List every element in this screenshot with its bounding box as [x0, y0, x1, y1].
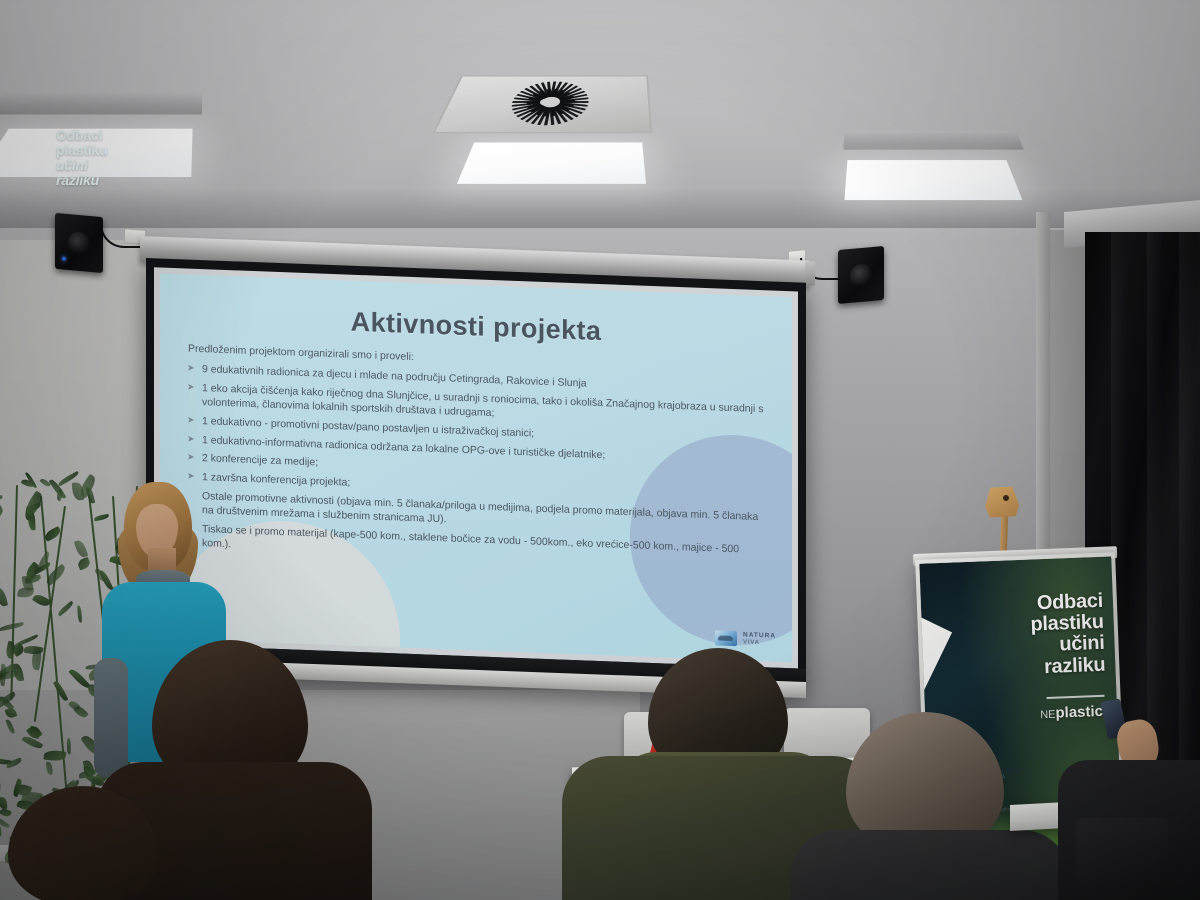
shirt-line-2: plastiku [56, 142, 107, 158]
photo-scene: Aktivnosti projekta Predloženim projekto… [0, 0, 1200, 900]
shirt-line-4: razliku [56, 172, 99, 188]
plant-leaf [0, 504, 5, 521]
plant-leaf [46, 761, 53, 774]
plant-leaf [0, 586, 9, 607]
shirt-line-3: učini [56, 157, 88, 173]
projection-screen: Aktivnosti projekta Predloženim projekto… [146, 258, 806, 695]
plant-leaf [0, 577, 1, 588]
bullet-arrow-icon: ➤ [187, 433, 195, 445]
wall-speaker-right [838, 246, 884, 304]
plant-leaf [0, 848, 2, 870]
bullet-arrow-icon: ➤ [187, 363, 195, 375]
plant-leaf [0, 777, 1, 794]
presenter-arm-left [94, 658, 128, 778]
nestbox-hole [1003, 495, 1009, 501]
ceiling-led-panel-center [457, 143, 646, 184]
plant-leaf [56, 601, 74, 617]
plant-leaf [0, 796, 8, 808]
slide-logo-natura-viva: NATURA VIVA [715, 630, 776, 647]
banner-divider [1047, 695, 1105, 699]
bullet-arrow-icon: ➤ [187, 452, 195, 464]
plant-leaf [0, 496, 2, 501]
presentation-slide: Aktivnosti projekta Predloženim projekto… [160, 274, 792, 663]
plant-leaf [23, 644, 43, 654]
attendee-grey-hair-body [790, 830, 1070, 900]
banner-headline: Odbaci plastiku učini razliku [975, 591, 1106, 681]
screen-surface: Aktivnosti projekta Predloženim projekto… [154, 267, 798, 668]
ceiling-light-frame-left [0, 92, 202, 114]
ceiling-led-panel-right [844, 160, 1022, 200]
banner-sub-prefix: NE [1040, 709, 1056, 722]
shirt-line-1: Odbaci [56, 127, 102, 143]
banner-subtitle: NEplastici [979, 703, 1108, 725]
slide-bullet-list: ➤9 edukativnih radionica za djecu i mlad… [186, 363, 766, 572]
plant-leaf [6, 719, 16, 735]
banner-sub-main: plastici [1055, 703, 1107, 722]
plant-leaf [4, 706, 17, 719]
bullet-arrow-icon: ➤ [187, 414, 195, 426]
plant-leaf [73, 704, 89, 719]
plant-leaf [74, 538, 89, 558]
black-bag [1076, 818, 1168, 888]
bullet-arrow-icon: ➤ [187, 382, 195, 394]
plant-leaf [86, 486, 96, 504]
bullet-text: 2 konferencije za medije; [202, 453, 318, 469]
plant-leaf [39, 477, 51, 488]
ceiling-light-frame-right [843, 131, 1023, 150]
plant-leaf [18, 586, 34, 598]
natura-viva-mark-icon [715, 630, 737, 646]
banner-line-4: razliku [977, 654, 1106, 680]
wall-speaker-left [55, 213, 103, 273]
plant-leaf [77, 557, 92, 570]
plant-leaf [66, 738, 71, 754]
plant-leaf [78, 605, 83, 622]
presenter-shirt-text: Odbaci plastiku učini razliku [56, 128, 132, 188]
swirl-air-diffuser-icon [432, 75, 652, 133]
